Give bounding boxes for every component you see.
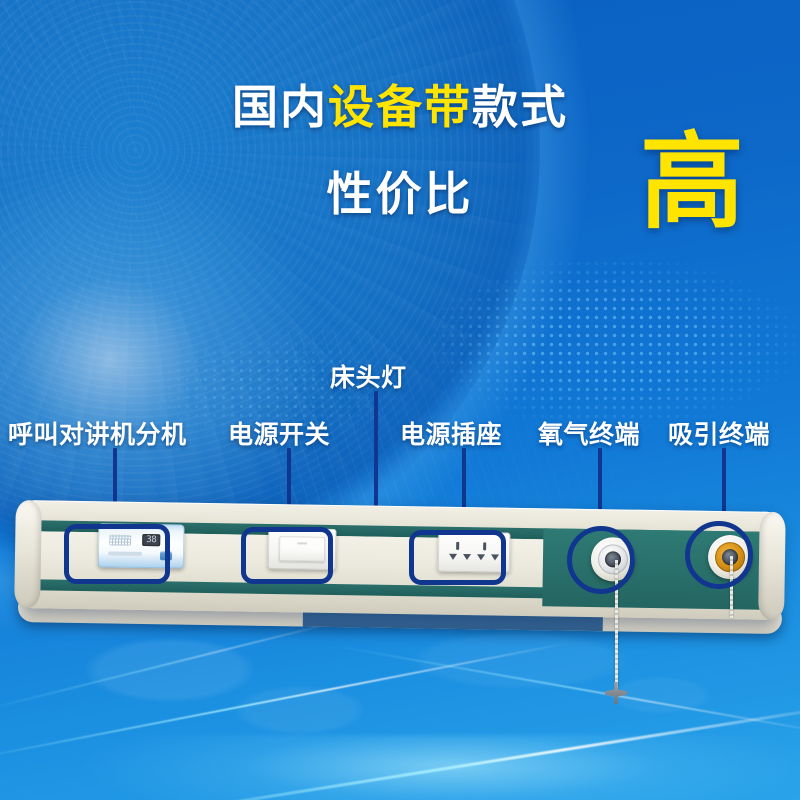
highlight-circle-suction — [685, 521, 753, 589]
callout-intercom: 呼叫对讲机分机 — [8, 415, 187, 451]
callout-label-suction: 吸引终端 — [668, 415, 770, 451]
callout-label-switch: 电源开关 — [228, 415, 330, 451]
callout-layer: 呼叫对讲机分机 电源开关 床头灯 电源插座 氧气终端 吸引终端 — [0, 0, 800, 800]
poster-canvas: 国内设备带款式 性价比 高 呼叫对讲机分机 电源开关 床头灯 电源插座 氧气终端… — [0, 0, 800, 800]
highlight-box-switch — [241, 527, 333, 584]
callout-switch: 电源开关 — [228, 415, 330, 451]
callout-label-intercom: 呼叫对讲机分机 — [8, 415, 187, 451]
rail-end-cap-left — [14, 500, 42, 608]
rail-end-cap-right — [758, 512, 786, 620]
callout-socket: 电源插座 — [400, 415, 502, 451]
callout-label-socket: 电源插座 — [400, 415, 502, 451]
callout-oxygen: 氧气终端 — [538, 415, 640, 451]
highlight-box-socket — [409, 530, 506, 585]
highlight-box-intercom — [64, 524, 170, 584]
callout-label-bedlamp: 床头灯 — [330, 358, 407, 394]
callout-label-oxygen: 氧气终端 — [538, 415, 640, 451]
callout-suction: 吸引终端 — [668, 415, 770, 451]
callout-bedlamp: 床头灯 — [330, 358, 407, 394]
highlight-circle-oxygen — [567, 526, 635, 594]
